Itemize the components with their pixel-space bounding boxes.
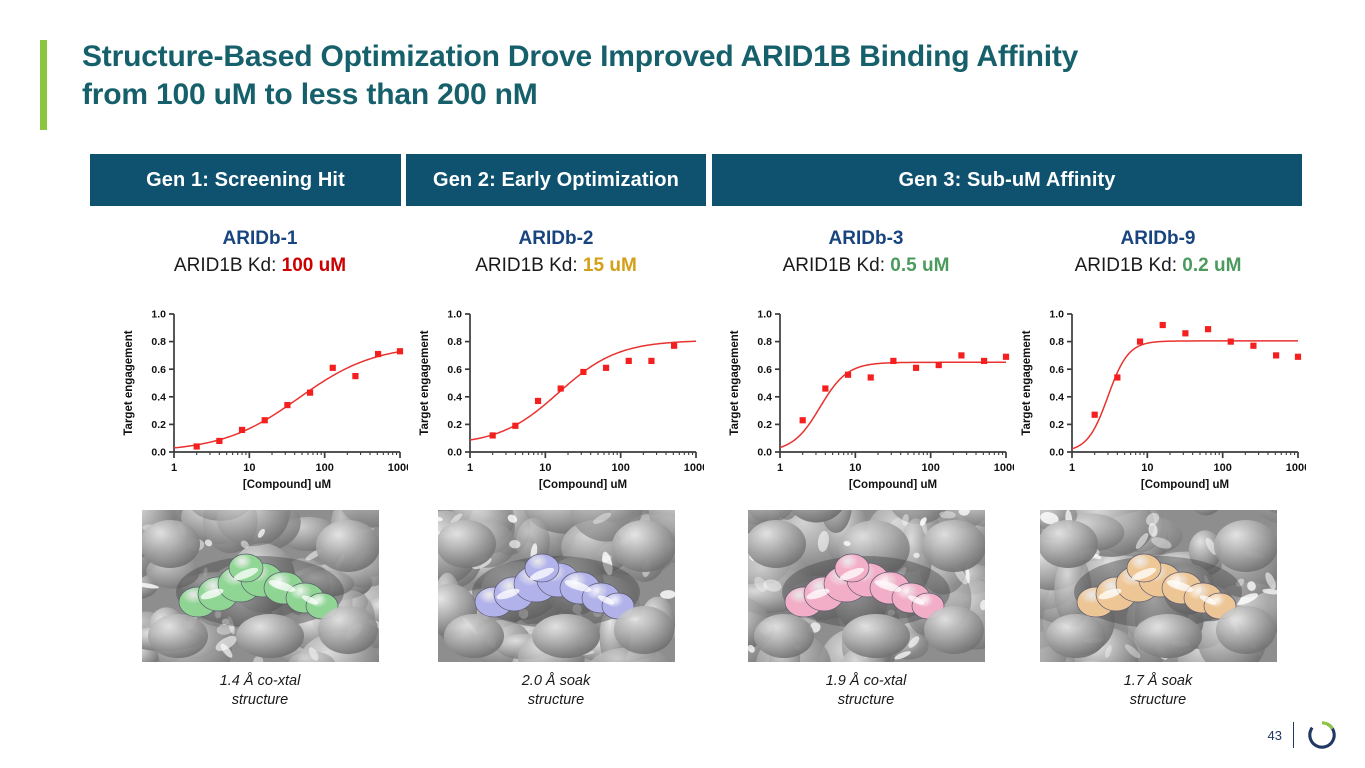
kd-value: 100 uM: [282, 255, 346, 276]
svg-text:1: 1: [467, 462, 473, 474]
dose-response-chart: 0.00.20.40.60.81.01101001000Target engag…: [1010, 300, 1306, 490]
svg-text:10: 10: [539, 462, 551, 474]
svg-text:Target engagement: Target engagement: [419, 330, 431, 435]
dose-response-chart: 0.00.20.40.60.81.01101001000Target engag…: [718, 300, 1014, 490]
svg-text:0.0: 0.0: [447, 446, 462, 458]
svg-text:0.4: 0.4: [1049, 391, 1064, 403]
compound-name: ARIDb-1: [112, 228, 408, 251]
dose-response-chart: 0.00.20.40.60.81.01101001000Target engag…: [112, 300, 408, 490]
gen-header-bar-1: Gen 1: Screening Hit: [90, 154, 401, 206]
svg-text:[Compound] uM: [Compound] uM: [1141, 479, 1229, 490]
gen-header-label-1: Gen 1: Screening Hit: [146, 169, 345, 192]
kd-value: 0.5 uM: [890, 255, 949, 276]
svg-text:1: 1: [1069, 462, 1075, 474]
kd-value: 15 uM: [583, 255, 637, 276]
svg-text:10: 10: [243, 462, 255, 474]
svg-text:0.0: 0.0: [757, 446, 772, 458]
svg-text:0.4: 0.4: [447, 391, 462, 403]
gen-header-label-2: Gen 2: Early Optimization: [433, 169, 679, 192]
svg-text:100: 100: [611, 462, 629, 474]
svg-text:1000: 1000: [388, 462, 408, 474]
slide-footer: 43: [1268, 718, 1339, 752]
kd-line: ARID1B Kd: 0.2 uM: [1010, 254, 1306, 278]
structure-caption: 2.0 Å soak structure: [408, 672, 704, 711]
svg-text:10: 10: [849, 462, 861, 474]
compound-name: ARIDb-3: [718, 228, 1014, 251]
svg-text:0.2: 0.2: [447, 419, 462, 431]
kd-value: 0.2 uM: [1182, 255, 1241, 276]
compound-column-1: ARIDb-1 ARID1B Kd: 100 uM 0.00.20.40.60.…: [112, 228, 408, 711]
svg-text:10: 10: [1141, 462, 1153, 474]
svg-text:0.8: 0.8: [447, 336, 462, 348]
svg-text:0.6: 0.6: [1049, 363, 1064, 375]
kd-label: ARID1B Kd:: [174, 255, 282, 276]
kd-label: ARID1B Kd:: [1075, 255, 1183, 276]
crystal-structure-image: [142, 510, 379, 662]
kd-label: ARID1B Kd:: [783, 255, 891, 276]
svg-text:1.0: 1.0: [1049, 308, 1064, 320]
compound-name: ARIDb-9: [1010, 228, 1306, 251]
svg-text:1: 1: [777, 462, 783, 474]
svg-text:1.0: 1.0: [757, 308, 772, 320]
structure-caption: 1.4 Å co-xtal structure: [112, 672, 408, 711]
svg-text:1.0: 1.0: [151, 308, 166, 320]
page-title: Structure-Based Optimization Drove Impro…: [82, 38, 1078, 114]
brand-logo-icon: [1305, 718, 1339, 752]
svg-text:1000: 1000: [1286, 462, 1306, 474]
structure-caption: 1.9 Å co-xtal structure: [718, 672, 1014, 711]
svg-text:100: 100: [1213, 462, 1231, 474]
svg-text:0.8: 0.8: [151, 336, 166, 348]
page-number: 43: [1268, 728, 1282, 743]
svg-text:[Compound] uM: [Compound] uM: [849, 479, 937, 490]
kd-label: ARID1B Kd:: [475, 255, 583, 276]
svg-text:[Compound] uM: [Compound] uM: [539, 479, 627, 490]
gen-header-label-3: Gen 3: Sub-uM Affinity: [899, 169, 1116, 192]
svg-text:0.0: 0.0: [151, 446, 166, 458]
svg-text:100: 100: [921, 462, 939, 474]
gen-header-bar-2: Gen 2: Early Optimization: [406, 154, 706, 206]
svg-text:0.0: 0.0: [1049, 446, 1064, 458]
svg-text:0.6: 0.6: [151, 363, 166, 375]
kd-line: ARID1B Kd: 100 uM: [112, 254, 408, 278]
compound-column-3: ARIDb-3 ARID1B Kd: 0.5 uM 0.00.20.40.60.…: [718, 228, 1014, 711]
kd-line: ARID1B Kd: 0.5 uM: [718, 254, 1014, 278]
svg-text:1.0: 1.0: [447, 308, 462, 320]
compound-column-4: ARIDb-9 ARID1B Kd: 0.2 uM 0.00.20.40.60.…: [1010, 228, 1306, 711]
svg-text:0.2: 0.2: [757, 419, 772, 431]
gen-header-bar-3: Gen 3: Sub-uM Affinity: [712, 154, 1302, 206]
svg-text:1: 1: [171, 462, 177, 474]
svg-text:0.6: 0.6: [757, 363, 772, 375]
svg-text:Target engagement: Target engagement: [729, 330, 741, 435]
dose-response-chart: 0.00.20.40.60.81.01101001000Target engag…: [408, 300, 704, 490]
svg-text:Target engagement: Target engagement: [123, 330, 135, 435]
svg-text:Target engagement: Target engagement: [1021, 330, 1033, 435]
svg-text:0.4: 0.4: [757, 391, 772, 403]
svg-text:0.8: 0.8: [757, 336, 772, 348]
svg-text:[Compound] uM: [Compound] uM: [243, 479, 331, 490]
footer-divider: [1293, 722, 1294, 748]
svg-text:0.6: 0.6: [447, 363, 462, 375]
compound-name: ARIDb-2: [408, 228, 704, 251]
svg-text:0.4: 0.4: [151, 391, 166, 403]
title-block: Structure-Based Optimization Drove Impro…: [40, 38, 1140, 134]
compound-column-2: ARIDb-2 ARID1B Kd: 15 uM 0.00.20.40.60.8…: [408, 228, 704, 711]
svg-text:100: 100: [315, 462, 333, 474]
structure-caption: 1.7 Å soak structure: [1010, 672, 1306, 711]
title-accent-bar: [40, 40, 47, 130]
kd-line: ARID1B Kd: 15 uM: [408, 254, 704, 278]
svg-text:0.2: 0.2: [1049, 419, 1064, 431]
crystal-structure-image: [438, 510, 675, 662]
crystal-structure-image: [1040, 510, 1277, 662]
svg-text:1000: 1000: [684, 462, 704, 474]
crystal-structure-image: [748, 510, 985, 662]
svg-text:0.8: 0.8: [1049, 336, 1064, 348]
svg-text:0.2: 0.2: [151, 419, 166, 431]
